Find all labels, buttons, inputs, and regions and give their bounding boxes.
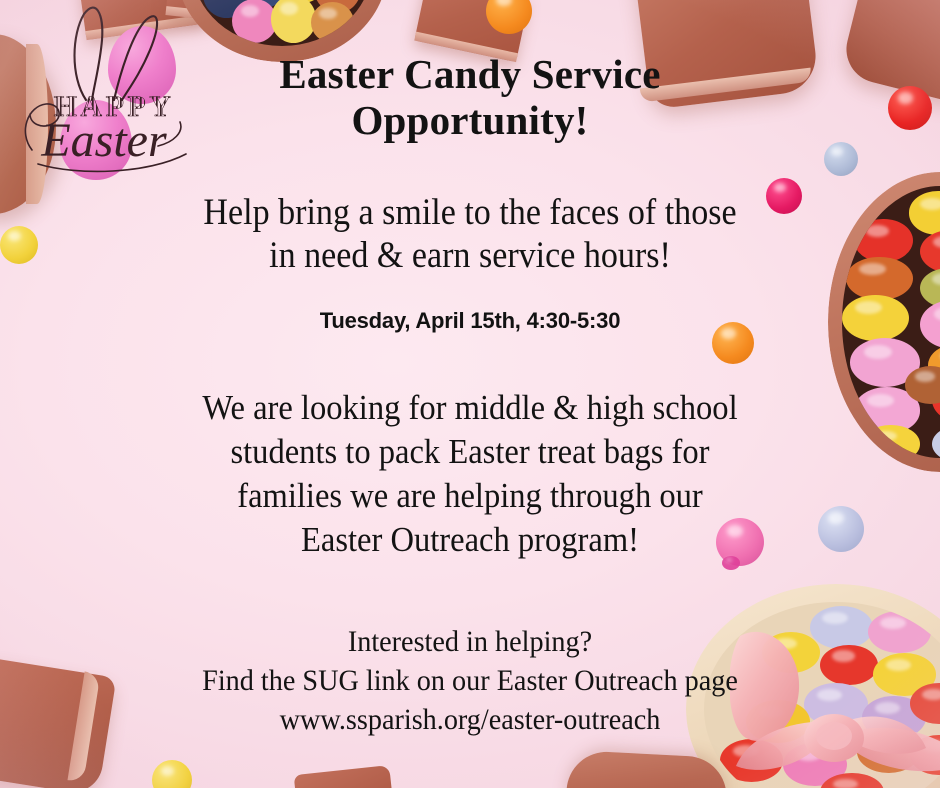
- website-url[interactable]: www.ssparish.org/easter-outreach: [28, 700, 912, 739]
- body-line-2: students to pack Easter treat bags for: [33, 430, 907, 474]
- body-line-3: families we are helping through our: [33, 474, 907, 518]
- body-line-1: We are looking for middle & high school: [33, 386, 907, 430]
- title-line-2: Opportunity!: [0, 98, 940, 144]
- body-copy: We are looking for middle & high school …: [33, 386, 907, 562]
- cta-line-2: Find the SUG link on our Easter Outreach…: [28, 661, 912, 700]
- lead-line-1: Help bring a smile to the faces of those: [38, 192, 903, 235]
- event-datetime: Tuesday, April 15th, 4:30-5:30: [0, 308, 940, 334]
- call-to-action: Interested in helping? Find the SUG link…: [28, 622, 912, 739]
- cta-line-1: Interested in helping?: [28, 622, 912, 661]
- title-line-1: Easter Candy Service: [0, 52, 940, 98]
- lead-text: Help bring a smile to the faces of those…: [38, 192, 903, 277]
- lead-line-2: in need & earn service hours!: [38, 235, 903, 278]
- body-line-4: Easter Outreach program!: [33, 518, 907, 562]
- page-title: Easter Candy Service Opportunity!: [0, 52, 940, 144]
- easter-flyer: HAPPY Easter Easter Candy Service Opport…: [0, 0, 940, 788]
